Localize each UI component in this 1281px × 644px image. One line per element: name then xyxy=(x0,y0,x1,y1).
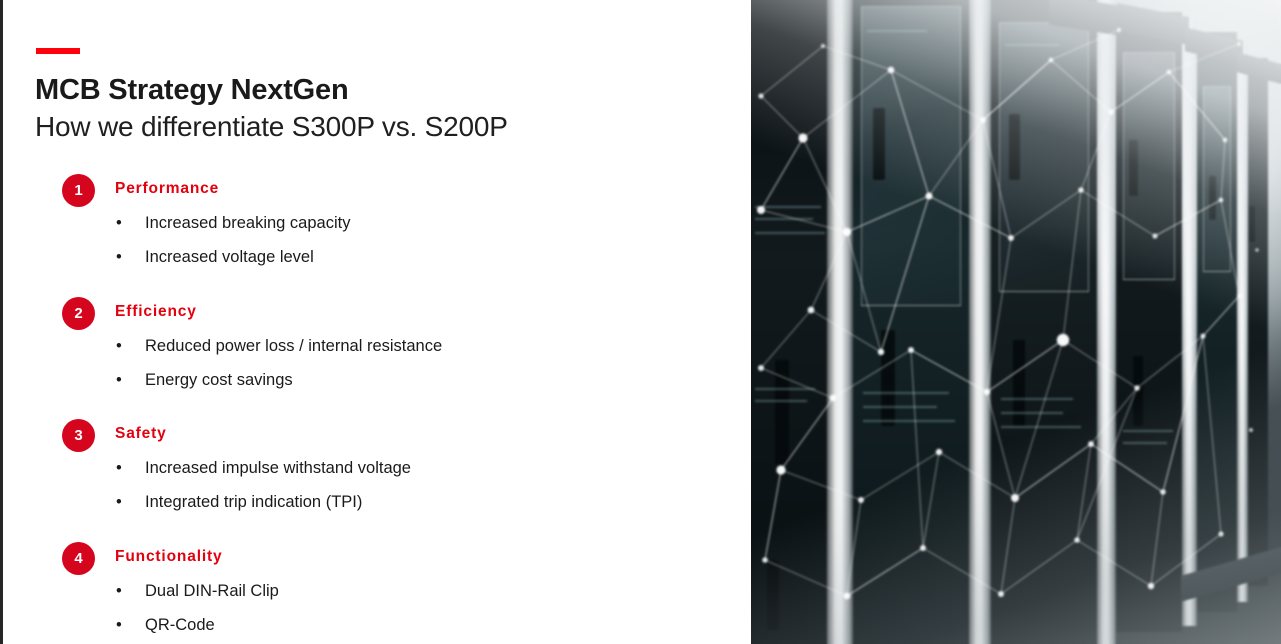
list-item-label: QR-Code xyxy=(145,616,215,634)
bullet-dot-icon: • xyxy=(116,329,122,363)
list-item-label: Reduced power loss / internal resistance xyxy=(145,337,442,355)
data-center-server-room-photo xyxy=(751,0,1281,644)
list-item: •Reduced power loss / internal resistanc… xyxy=(115,329,735,363)
list-item: •Increased breaking capacity xyxy=(115,206,735,240)
list-item: •Integrated trip indication (TPI) xyxy=(115,485,735,519)
page-title: MCB Strategy NextGen xyxy=(35,74,348,106)
network-node-overlay-icon xyxy=(751,0,1281,644)
bullet-dot-icon: • xyxy=(116,206,122,240)
list-item-label: Increased voltage level xyxy=(145,248,314,266)
section-title-functionality: Functionality xyxy=(115,548,223,566)
section-title-safety: Safety xyxy=(115,425,167,443)
section-number-badge-2: 2 xyxy=(62,297,95,330)
section-number-badge-1: 1 xyxy=(62,174,95,207)
list-item-label: Integrated trip indication (TPI) xyxy=(145,493,362,511)
list-item-label: Dual DIN-Rail Clip xyxy=(145,582,279,600)
section-title-performance: Performance xyxy=(115,180,219,198)
list-item: •Energy cost savings xyxy=(115,363,735,397)
list-item-label: Energy cost savings xyxy=(145,371,293,389)
list-item-label: Increased breaking capacity xyxy=(145,214,350,232)
bullet-dot-icon: • xyxy=(116,574,122,608)
bullet-dot-icon: • xyxy=(116,608,122,642)
bullet-dot-icon: • xyxy=(116,451,122,485)
red-accent-bar xyxy=(36,48,80,54)
bullet-dot-icon: • xyxy=(116,240,122,274)
list-item: •Increased voltage level xyxy=(115,240,735,274)
section-bullet-list-safety: •Increased impulse withstand voltage •In… xyxy=(115,451,735,519)
list-item: •Dual DIN-Rail Clip xyxy=(115,574,735,608)
page-subtitle: How we differentiate S300P vs. S200P xyxy=(35,110,508,144)
list-item: •QR-Code xyxy=(115,608,735,642)
list-item: •Increased impulse withstand voltage xyxy=(115,451,735,485)
slide-canvas: MCB Strategy NextGen How we differentiat… xyxy=(0,0,1281,644)
bullet-dot-icon: • xyxy=(116,485,122,519)
list-item-label: Increased impulse withstand voltage xyxy=(145,459,411,477)
section-title-efficiency: Efficiency xyxy=(115,303,197,321)
section-bullet-list-functionality: •Dual DIN-Rail Clip •QR-Code xyxy=(115,574,735,642)
section-bullet-list-performance: •Increased breaking capacity •Increased … xyxy=(115,206,735,274)
section-number-badge-3: 3 xyxy=(62,419,95,452)
slide-content-column: MCB Strategy NextGen How we differentiat… xyxy=(0,0,751,644)
section-bullet-list-efficiency: •Reduced power loss / internal resistanc… xyxy=(115,329,735,397)
section-number-badge-4: 4 xyxy=(62,542,95,575)
bullet-dot-icon: • xyxy=(116,363,122,397)
